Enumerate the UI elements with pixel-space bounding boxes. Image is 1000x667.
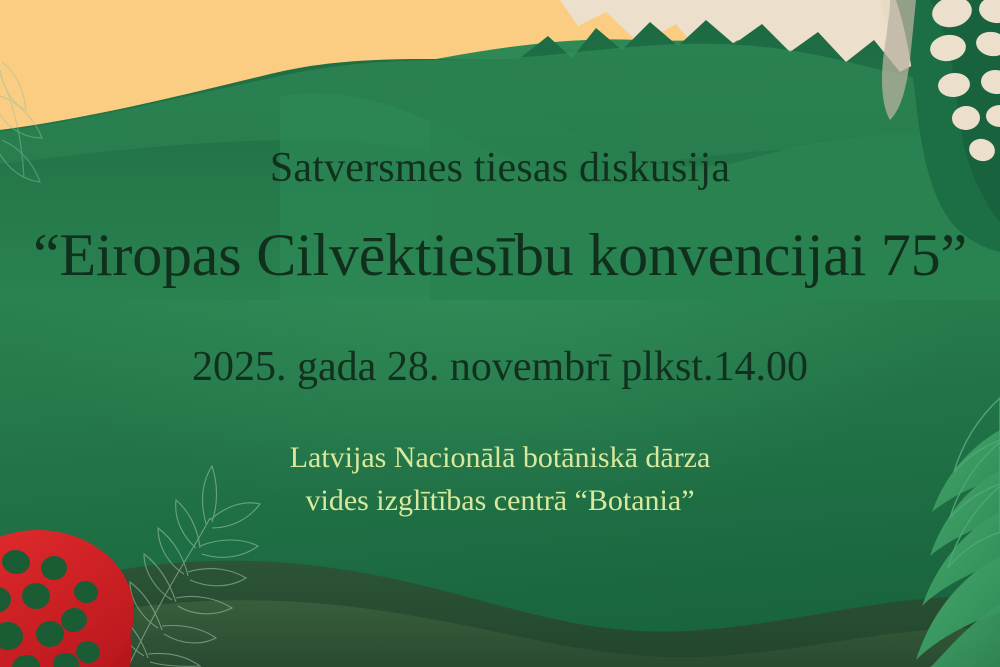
venue-line-2: vides izglītības centrā “Botania” <box>0 480 1000 523</box>
poster-text-block: Satversmes tiesas diskusija “Eiropas Cil… <box>0 0 1000 667</box>
event-headline: “Eiropas Cilvēktiesību konvencijai 75” <box>0 222 1000 288</box>
event-datetime: 2025. gada 28. novembrī plkst.14.00 <box>0 343 1000 391</box>
poster-canvas: Satversmes tiesas diskusija “Eiropas Cil… <box>0 0 1000 667</box>
event-venue: Latvijas Nacionālā botāniskā dārza vides… <box>0 437 1000 522</box>
event-kicker: Satversmes tiesas diskusija <box>0 145 1000 192</box>
venue-line-1: Latvijas Nacionālā botāniskā dārza <box>0 437 1000 480</box>
